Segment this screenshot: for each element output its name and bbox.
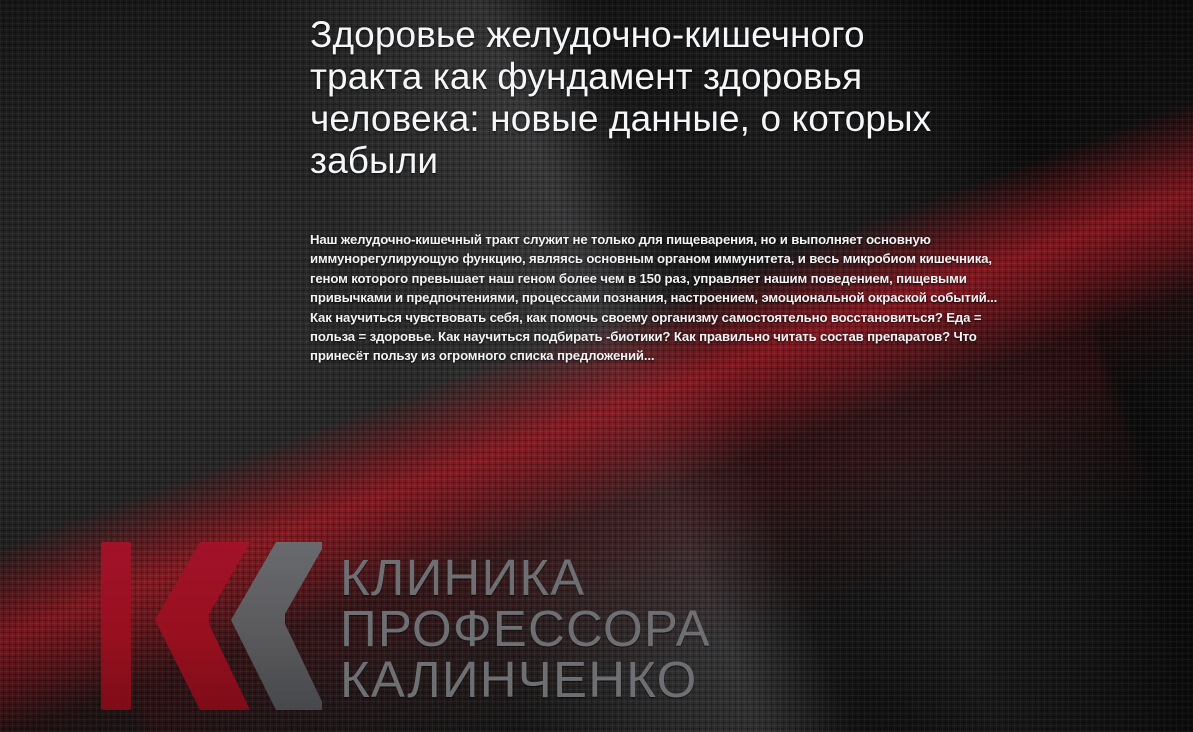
- article-headline: Здоровье желудочно-кишечного тракта как …: [310, 0, 950, 182]
- logo-line-2: ПРОФЕССОРА: [340, 603, 790, 654]
- article-lede: Наш желудочно-кишечный тракт служит не т…: [310, 182, 1022, 366]
- logo-line-3: КАЛИНЧЕНКО: [340, 654, 790, 705]
- kk-chevron-mark-icon: [92, 536, 322, 716]
- clinic-logo-wordmark: КЛИНИКА ПРОФЕССОРА КАЛИНЧЕНКО: [340, 552, 790, 705]
- slide-content: Здоровье желудочно-кишечного тракта как …: [310, 0, 1040, 366]
- logo-line-1: КЛИНИКА: [340, 552, 790, 603]
- presentation-slide: Здоровье желудочно-кишечного тракта как …: [0, 0, 1193, 732]
- clinic-logo: КЛИНИКА ПРОФЕССОРА КАЛИНЧЕНКО: [92, 536, 792, 722]
